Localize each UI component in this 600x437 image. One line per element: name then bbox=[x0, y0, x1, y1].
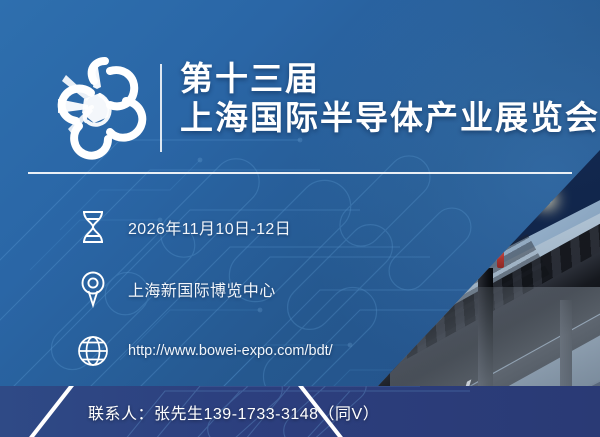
hourglass-icon bbox=[72, 206, 114, 248]
info-row-venue: 上海新国际博览中心 bbox=[72, 258, 402, 320]
info-venue-text: 上海新国际博览中心 bbox=[128, 277, 276, 301]
title-divider bbox=[160, 64, 162, 152]
footer-band: 联系人：张先生139-1733-3148（同V） bbox=[0, 386, 600, 437]
info-list: 2026年11月10日-12日 上海新国际博览中心 http://www bbox=[72, 196, 402, 382]
info-row-date: 2026年11月10日-12日 bbox=[72, 196, 402, 258]
map-pin-icon bbox=[72, 268, 114, 310]
globe-icon bbox=[72, 330, 114, 372]
butterfly-starburst-logo bbox=[48, 55, 156, 163]
title-line-2: 上海国际半导体产业展览会 bbox=[180, 99, 600, 138]
info-row-website[interactable]: http://www.bowei-expo.com/bdt/ bbox=[72, 320, 402, 382]
info-date-text: 2026年11月10日-12日 bbox=[128, 215, 291, 239]
contact-info: 联系人：张先生139-1733-3148（同V） bbox=[88, 386, 379, 437]
title-line-1: 第十三届 bbox=[180, 60, 600, 99]
header-rule bbox=[28, 172, 572, 174]
page-title: 第十三届 上海国际半导体产业展览会 bbox=[180, 60, 600, 138]
info-website-text[interactable]: http://www.bowei-expo.com/bdt/ bbox=[128, 343, 333, 359]
exhibition-poster: MEDIATEK 第十三届 上海国际半导体产业展览会 bbox=[0, 0, 600, 437]
